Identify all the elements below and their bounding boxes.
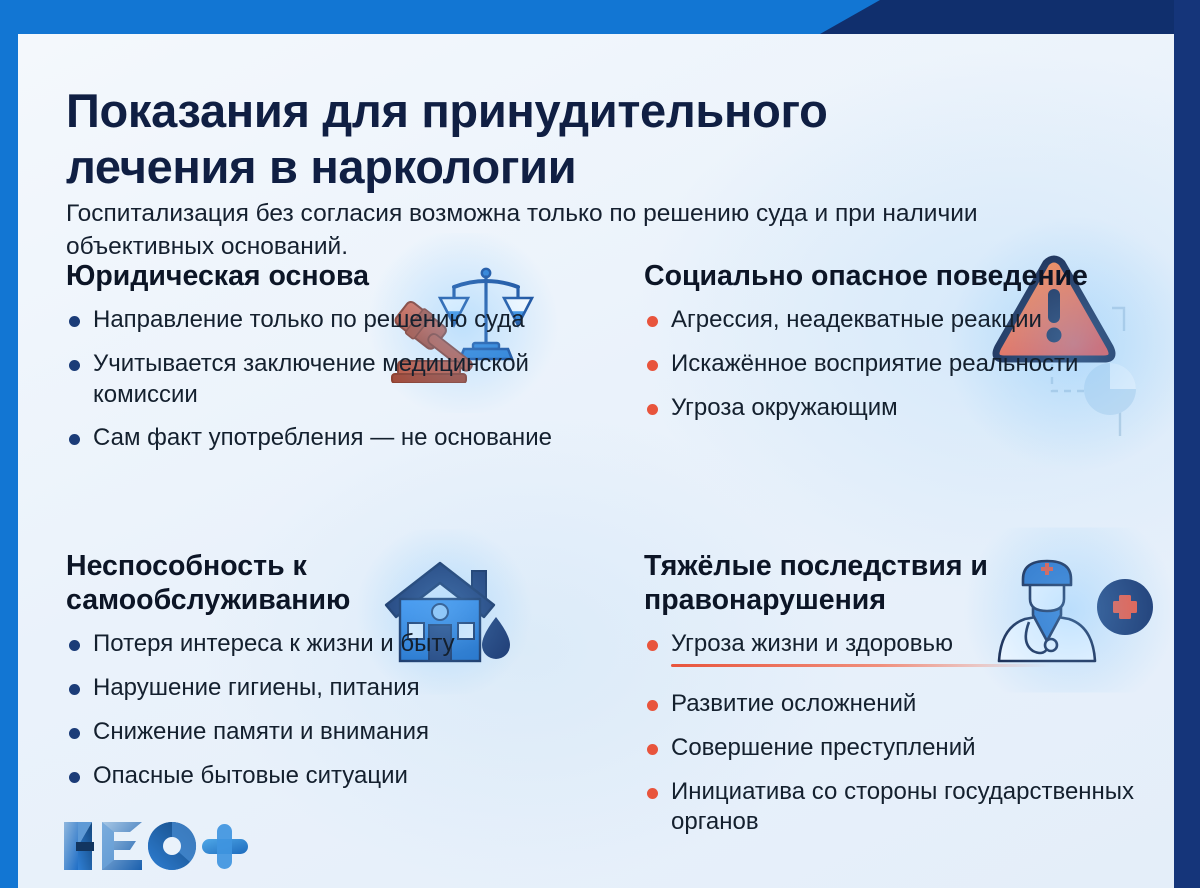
logo-plus-symbol: [202, 824, 248, 869]
list-item: Опасные бытовые ситуации: [66, 761, 572, 792]
section-bullet-list: Направление только по решению суда Учиты…: [66, 305, 572, 454]
section-self-care-inability: Неспособность к самообслуживанию Потеря …: [18, 549, 596, 804]
neo-plus-logo: [62, 820, 252, 872]
list-item: Учитывается заключение медицинской комис…: [66, 349, 572, 410]
section-heading: Тяжёлые последствия и правонарушения: [644, 549, 1150, 617]
left-frame-bar: [0, 0, 18, 888]
list-item: Снижение памяти и внимания: [66, 717, 572, 748]
section-heading: Юридическая основа: [66, 259, 572, 293]
list-item: Нарушение гигиены, питания: [66, 673, 572, 704]
list-item: Направление только по решению суда: [66, 305, 572, 336]
section-bullet-list: Угроза жизни и здоровью: [644, 629, 1150, 660]
logo-letter-e: [102, 822, 142, 870]
top-frame-bar-blue: [0, 0, 880, 34]
section-severe-consequences: Тяжёлые последствия и правонарушения Угр…: [596, 549, 1174, 851]
list-item: Совершение преступлений: [644, 733, 1150, 764]
content-card: Показания для принудительного лечения в …: [18, 34, 1174, 888]
logo-letter-n: [64, 822, 94, 870]
list-item: Потеря интереса к жизни и быту: [66, 629, 572, 660]
list-item: Угроза окружающим: [644, 393, 1150, 424]
section-heading: Социально опасное поведение: [644, 259, 1150, 293]
infographic-poster: Показания для принудительного лечения в …: [0, 0, 1200, 888]
list-item: Агрессия, неадекватные реакции: [644, 305, 1150, 336]
list-item: Инициатива со стороны государственных ор…: [644, 777, 1150, 838]
top-frame-bar-navy: [820, 0, 1200, 34]
section-legal-basis: Юридическая основа Направление только по…: [18, 259, 596, 467]
page-title: Показания для принудительного лечения в …: [66, 83, 1026, 194]
section-bullet-list: Потеря интереса к жизни и быту Нарушение…: [66, 629, 572, 791]
list-item: Развитие осложнений: [644, 689, 1150, 720]
right-frame-bar: [1174, 0, 1200, 888]
section-bullet-list-continued: Развитие осложнений Совершение преступле…: [644, 689, 1150, 838]
logo-letter-o: [148, 822, 196, 870]
section-dangerous-behavior: Социально опасное поведение Агрессия, не…: [596, 259, 1174, 436]
list-item: Сам факт употребления — не основание: [66, 423, 572, 454]
list-item: Искажённое восприятие реальности: [644, 349, 1150, 380]
section-bullet-list: Агрессия, неадекватные реакции Искажённо…: [644, 305, 1150, 423]
section-heading: Неспособность к самообслуживанию: [66, 549, 572, 617]
list-item: Угроза жизни и здоровью: [644, 629, 1150, 660]
page-subtitle: Госпитализация без согласия возможна тол…: [66, 197, 1026, 265]
